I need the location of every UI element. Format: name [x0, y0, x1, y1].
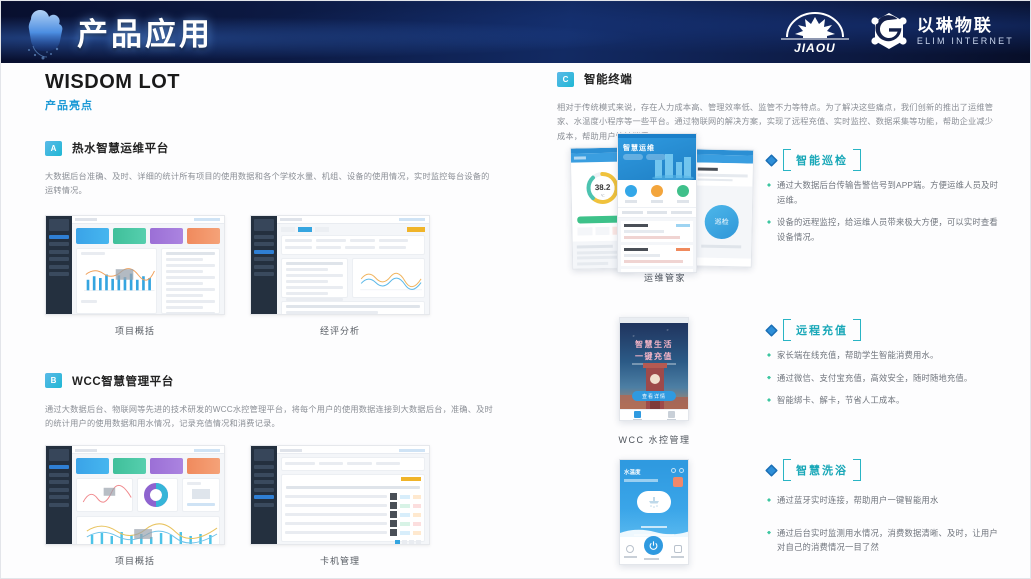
feature-item-text: 家长端在线充值，帮助学生智能消费用水。	[777, 348, 938, 363]
feature-header: 智慧洗浴	[767, 459, 999, 481]
phone-screenshot-inspection[interactable]: 巡检	[690, 148, 754, 267]
dashboard-screenshot-wcc-overview[interactable]	[45, 445, 225, 545]
feature-item-text: 通过蓝牙实时连接，帮助用户一键智能用水	[777, 493, 938, 508]
section-b-thumbnails: 项目概括	[45, 445, 493, 567]
inspect-button[interactable]: 巡检	[704, 205, 739, 240]
mini-bar-chart-panel	[76, 248, 157, 314]
feature-title: 远程充值	[783, 319, 861, 341]
thumbnail-caption: 卡机管理	[250, 554, 430, 567]
mockup-group-wcc: 智慧生活 一键充值 查看详情	[619, 317, 689, 423]
mini-kpi-panel	[182, 478, 220, 512]
svg-text:38.2: 38.2	[595, 183, 611, 192]
thumbnail-card-machine[interactable]: 卡机管理	[250, 445, 430, 567]
mini-form-panel	[281, 235, 425, 255]
feature-item-text: 通过微信、支付宝充值，高效安全，随时随地充值。	[777, 371, 972, 386]
feature-title: 智慧洗浴	[783, 459, 861, 481]
left-column: WISDOM LOT 产品亮点 A 热水智慧运维平台 大数据后台准确、及时、详细…	[45, 71, 493, 567]
bullet-diamond-icon	[767, 531, 771, 535]
alarm-list	[618, 218, 696, 274]
feature-item: 家长端在线充值，帮助学生智能消费用水。	[767, 348, 999, 363]
brand-name-en: WISDOM LOT	[45, 71, 493, 94]
feature-item-list: 通过蓝牙实时连接，帮助用户一键智能用水 通过后台实时监测用水情况，消费数据清晰、…	[767, 493, 999, 555]
feature-item: 通过后台实时监测用水情况，消费数据清晰、及时，让用户对自己的消费情况一目了然	[767, 526, 999, 555]
power-icon	[649, 541, 658, 550]
clock-tower-illustration	[620, 359, 688, 409]
brand-name-cn: 产品亮点	[45, 97, 493, 113]
elim-name-cn: 以琳物联	[917, 17, 1014, 34]
mini-donut-chart	[141, 482, 175, 508]
header-logos: JIAOU 以琳物联 ELIM INTERNET	[779, 7, 1014, 55]
mini-data-table	[281, 258, 348, 298]
section-b-description: 通过大数据后台、物联网等先进的技术研发的WCC水控管理平台，将每个用户的使用数据…	[45, 403, 493, 432]
page-title: 产品应用	[77, 9, 213, 54]
page-header: 产品应用 JIAOU 以琳物联 ELIM I	[1, 1, 1030, 63]
jiaou-logo: JIAOU	[779, 7, 851, 55]
feature-item-list: 家长端在线充值，帮助学生智能消费用水。 通过微信、支付宝充值，高效安全，随时随地…	[767, 348, 999, 408]
svg-text:℃: ℃	[601, 194, 606, 198]
section-c-title: 智能终端	[584, 71, 632, 87]
section-b-title: WCC智慧管理平台	[72, 373, 174, 389]
mini-line-chart-panel	[352, 258, 425, 298]
bullet-diamond-icon	[767, 498, 771, 502]
elim-logo: 以琳物联 ELIM INTERNET	[869, 11, 1014, 51]
quick-actions[interactable]	[618, 180, 696, 207]
feature-item: 通过蓝牙实时连接，帮助用户一键智能用水	[767, 493, 999, 508]
feature-item-list: 通过大数据后台传输告警信号到APP端。方便运维人员及时运维。 设备的远程监控，给…	[767, 178, 999, 244]
thumbnail-economic-analysis[interactable]: 经评分析	[250, 215, 430, 337]
mini-main-area	[72, 216, 224, 314]
section-c-badge: C	[557, 72, 574, 87]
feature-item-text: 智能绑卡、解卡，节省人工成本。	[777, 393, 904, 408]
mini-stat-cards	[72, 224, 224, 248]
mockup-group-ops-butler: 38.2 ℃	[565, 133, 775, 293]
wcc-poster: 智慧生活 一键充值 查看详情	[620, 323, 688, 409]
section-a-title: 热水智慧运维平台	[72, 140, 169, 156]
page-body: WISDOM LOT 产品亮点 A 热水智慧运维平台 大数据后台准确、及时、详细…	[1, 63, 1030, 579]
mockup-group-water-temp: 水温度	[619, 459, 689, 567]
feature-item: 设备的远程监控，给运维人员带来极大方便，可以实时查看设备情况。	[767, 215, 999, 244]
city-illustration	[651, 146, 695, 180]
phone-screenshot-water-temperature[interactable]: 水温度	[619, 459, 689, 565]
mini-combo-chart-panel	[76, 516, 220, 545]
feature-header: 远程充值	[767, 319, 999, 341]
feature-item-text: 通过大数据后台传输告警信号到APP端。方便运维人员及时运维。	[777, 178, 999, 207]
feature-block-remote-recharge: 远程充值 家长端在线充值，帮助学生智能消费用水。 通过微信、支付宝充值，高效安全…	[767, 319, 999, 416]
shower-head-icon	[637, 491, 671, 513]
mini-line-chart	[353, 259, 424, 297]
right-column: C 智能终端 相对于传统模式来说，存在人力成本高、管理效率低、监管不力等特点。为…	[557, 71, 1005, 144]
thumbnail-project-overview-2[interactable]: 项目概括	[45, 445, 225, 567]
mini-area-chart-panel	[76, 478, 133, 512]
section-b-badge: B	[45, 373, 62, 388]
feature-block-smart-inspection: 智能巡检 通过大数据后台传输告警信号到APP端。方便运维人员及时运维。 设备的远…	[767, 149, 999, 252]
section-a-description: 大数据后台准确、及时、详细的统计所有项目的使用数据和各个学校水量、机组、设备的使…	[45, 170, 493, 199]
fist-icon	[17, 3, 71, 61]
section-a: A 热水智慧运维平台 大数据后台准确、及时、详细的统计所有项目的使用数据和各个学…	[45, 140, 493, 337]
feature-item-text: 通过后台实时监测用水情况，消费数据清晰、及时，让用户对自己的消费情况一目了然	[777, 526, 999, 555]
bullet-diamond-icon	[767, 398, 771, 402]
dashboard-screenshot-economic-analysis[interactable]	[250, 215, 430, 315]
phone-screenshot-wcc-poster[interactable]: 智慧生活 一键充值 查看详情	[619, 317, 689, 421]
mockup-caption-wcc: WCC 水控管理	[577, 433, 732, 446]
feature-item: 智能绑卡、解卡，节省人工成本。	[767, 393, 999, 408]
water-temp-main: 水温度	[620, 465, 688, 537]
feature-header: 智能巡检	[767, 149, 999, 171]
mini-table-panel	[161, 248, 220, 314]
diamond-bullet-icon	[765, 154, 778, 167]
feature-item: 通过微信、支付宝充值，高效安全，随时随地充值。	[767, 371, 999, 386]
thumbnail-caption: 项目概括	[45, 324, 225, 337]
product-application-page: 产品应用 JIAOU 以琳物联 ELIM I	[0, 0, 1031, 579]
bullet-diamond-icon	[767, 353, 771, 357]
mini-sidebar	[46, 216, 72, 314]
mini-card-table	[281, 474, 425, 542]
jiaou-wordmark: JIAOU	[779, 41, 851, 55]
thumbnail-caption: 项目概括	[45, 554, 225, 567]
mini-bottom-table	[281, 301, 425, 315]
water-temp-tabbar[interactable]	[620, 537, 688, 565]
mini-bar-chart	[77, 258, 156, 298]
section-b-header: B WCC智慧管理平台	[45, 373, 493, 389]
brand-block: WISDOM LOT 产品亮点	[45, 71, 493, 113]
mini-stat-cards	[72, 454, 224, 478]
diamond-bullet-icon	[765, 324, 778, 337]
mini-area-chart	[77, 479, 132, 509]
section-b: B WCC智慧管理平台 通过大数据后台、物联网等先进的技术研发的WCC水控管理平…	[45, 373, 493, 568]
wcc-tabbar[interactable]	[620, 409, 688, 421]
feature-block-smart-bath: 智慧洗浴 通过蓝牙实时连接，帮助用户一键智能用水 通过后台实时监测用水情况，消费…	[767, 459, 999, 563]
mini-donut-panel	[137, 478, 178, 512]
feature-item: 通过大数据后台传输告警信号到APP端。方便运维人员及时运维。	[767, 178, 999, 207]
dashboard-screenshot-project-overview[interactable]	[45, 215, 225, 315]
dashboard-screenshot-card-management[interactable]	[250, 445, 430, 545]
mini-combo-chart	[77, 517, 219, 545]
thumbnail-project-overview-1[interactable]: 项目概括	[45, 215, 225, 337]
phone-screenshot-ops-butler-home[interactable]: 智慧运维	[617, 133, 697, 273]
section-a-badge: A	[45, 141, 62, 156]
wcc-poster-line1: 智慧生活	[620, 339, 688, 350]
mini-filter-bar	[281, 457, 425, 471]
feature-item-text: 设备的远程监控，给运维人员带来极大方便，可以实时查看设备情况。	[777, 215, 999, 244]
bullet-diamond-icon	[767, 183, 771, 187]
jiaou-mark-icon	[779, 7, 851, 43]
section-a-thumbnails: 项目概括	[45, 215, 493, 337]
diamond-bullet-icon	[765, 464, 778, 477]
elim-mark-icon	[869, 11, 909, 51]
section-c-header: C 智能终端	[557, 71, 1005, 87]
thumbnail-caption: 经评分析	[250, 324, 430, 337]
feature-title: 智能巡检	[783, 149, 861, 171]
bullet-diamond-icon	[767, 220, 771, 224]
ops-butler-banner: 智慧运维	[618, 138, 696, 180]
wcc-recharge-button[interactable]: 查看详情	[632, 391, 676, 401]
section-a-header: A 热水智慧运维平台	[45, 140, 493, 156]
bullet-diamond-icon	[767, 376, 771, 380]
elim-name-en: ELIM INTERNET	[917, 37, 1014, 46]
